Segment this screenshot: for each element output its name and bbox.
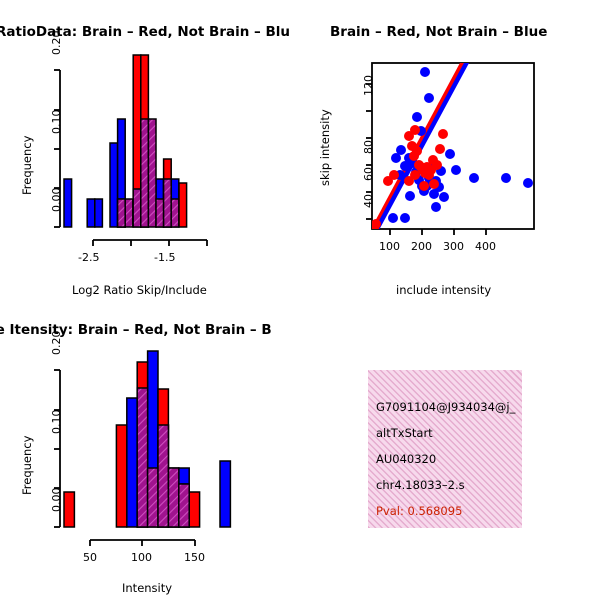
info-box-lines: G7091104@J934034@j_ altTxStart AU040320 … [368,370,522,524]
scatter-xtick-400: 400 [475,240,496,253]
intensity-xtick-50: 50 [83,551,97,564]
panel-scatter: Brain – Red, Not Brain – Blue skip inten… [300,0,600,310]
ratio-xtick-0: -2.5 [78,251,99,264]
scatter-xtick-300: 300 [443,240,464,253]
ratio-x-axis [93,240,207,246]
intensity-xtick-100: 100 [131,551,152,564]
intensity-x-axis [90,540,195,546]
scatter-plot [300,0,600,300]
info-line-pval: Pval: 0.568095 [376,498,522,524]
panel-ratio-histogram: RatioData: Brain – Red, Not Brain – Blu … [0,0,300,310]
info-line-gene-id: G7091104@J934034@j_ [376,394,522,420]
intensity-xtick-150: 150 [184,551,205,564]
gene-info-box: G7091104@J934034@j_ altTxStart AU040320 … [368,370,522,528]
ratio-histogram-plot [0,0,300,300]
fit-line-not-brain [377,62,467,229]
panel-intensity-histogram: ne Itensity: Brain – Red, Not Brain – B … [0,300,300,600]
scatter-xtick-100: 100 [379,240,400,253]
info-line-accession: AU040320 [376,446,522,472]
scatter-xtick-200: 200 [411,240,432,253]
ratio-xtick-2: -1.5 [154,251,175,264]
fit-line-brain [374,62,463,228]
info-line-location: chr4.18033–2.s [376,472,522,498]
info-line-event-type: altTxStart [376,420,522,446]
